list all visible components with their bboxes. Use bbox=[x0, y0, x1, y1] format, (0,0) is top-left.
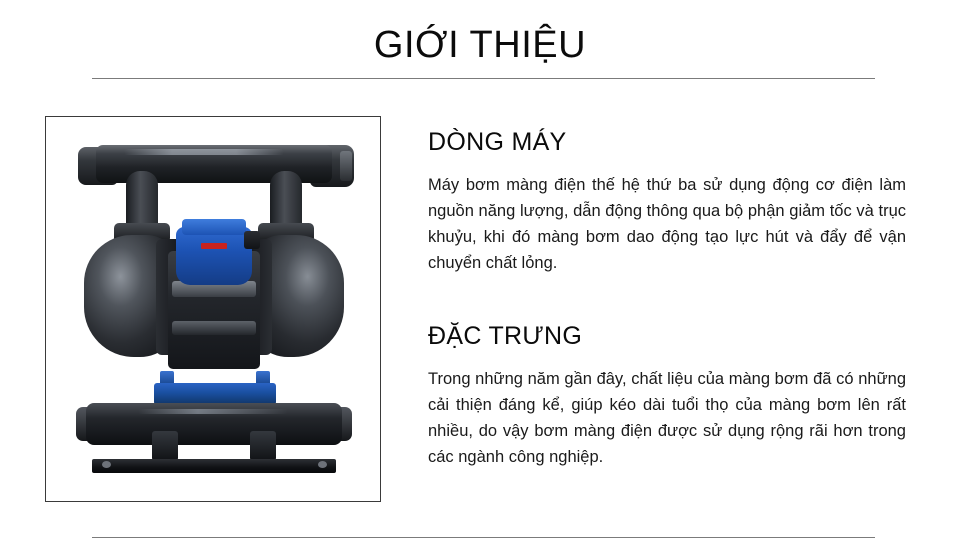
bottom-manifold-highlight bbox=[138, 409, 288, 414]
motor-top-cover bbox=[182, 219, 246, 235]
section-paragraph: Máy bơm màng điện thế hệ thứ ba sử dụng … bbox=[428, 172, 906, 276]
top-fitting-right-face bbox=[340, 151, 352, 181]
section-heading: ĐẶC TRƯNG bbox=[428, 320, 906, 352]
page-title: GIỚI THIỆU bbox=[0, 22, 960, 68]
slide-root: GIỚI THIỆU bbox=[0, 0, 960, 560]
top-manifold-highlight bbox=[124, 149, 284, 155]
header-divider bbox=[92, 78, 875, 79]
section-dac-trung: ĐẶC TRƯNG Trong những năm gần đây, chất … bbox=[428, 320, 906, 470]
anchor-bolt-right-icon bbox=[318, 461, 327, 468]
center-band-lower bbox=[172, 321, 256, 335]
electric-motor bbox=[176, 227, 252, 285]
mounting-bracket-left bbox=[152, 431, 178, 461]
anchor-bolt-left-icon bbox=[102, 461, 111, 468]
product-image bbox=[46, 117, 380, 501]
content-column: DÒNG MÁY Máy bơm màng điện thế hệ thứ ba… bbox=[428, 126, 906, 470]
motor-terminal-box bbox=[244, 231, 260, 249]
section-dong-may: DÒNG MÁY Máy bơm màng điện thế hệ thứ ba… bbox=[428, 126, 906, 276]
motor-label-badge bbox=[201, 243, 227, 249]
floor-base-plate bbox=[92, 459, 336, 473]
section-paragraph: Trong những năm gần đây, chất liệu của m… bbox=[428, 366, 906, 470]
mounting-bracket-right bbox=[250, 431, 276, 461]
diaphragm-pump-illustration bbox=[72, 131, 356, 487]
section-heading: DÒNG MÁY bbox=[428, 126, 906, 158]
footer-divider bbox=[92, 537, 875, 538]
product-image-frame bbox=[45, 116, 381, 502]
motor-base-plate bbox=[154, 383, 276, 405]
